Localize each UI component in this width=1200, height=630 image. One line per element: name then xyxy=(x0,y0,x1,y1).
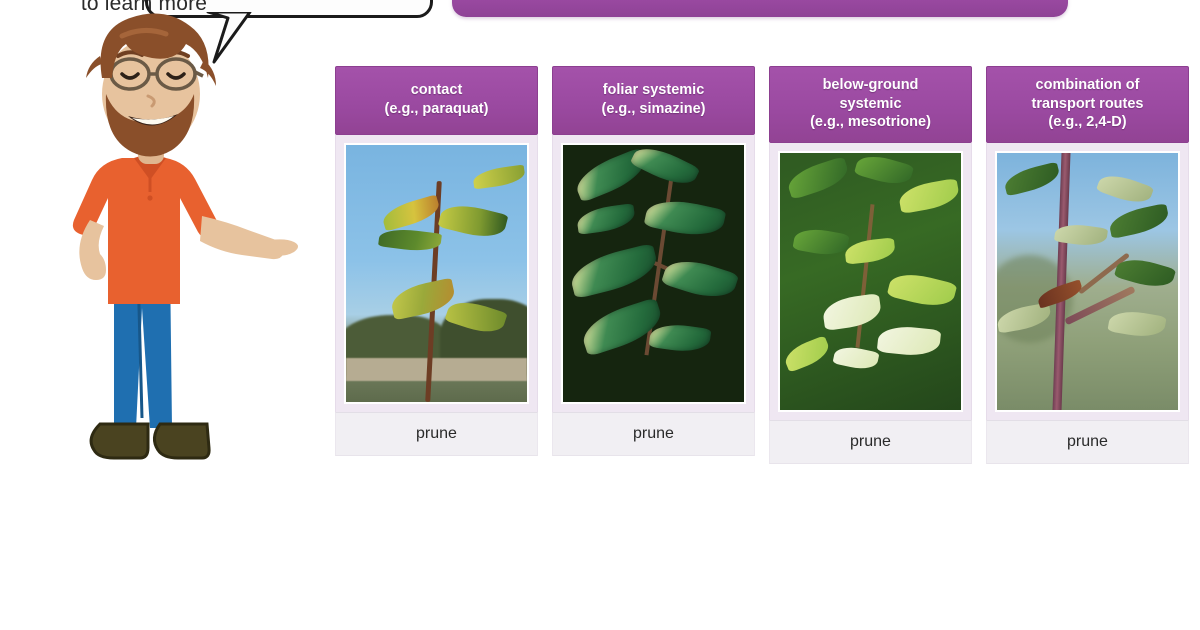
card-title-line2: (e.g., paraquat) xyxy=(385,101,489,117)
plant-photo-foliar-systemic xyxy=(561,143,746,404)
card-title-line2: transport routes xyxy=(1032,96,1144,112)
card-title-line1: contact xyxy=(411,82,463,98)
card-photo-frame xyxy=(986,143,1189,420)
plant-photo-below-ground-systemic xyxy=(778,151,963,412)
cartoon-instructor-avatar xyxy=(18,8,318,488)
card-title-line2: systemic xyxy=(839,96,901,112)
card-photo-frame xyxy=(335,135,538,412)
top-banner-pill xyxy=(452,0,1068,17)
card-title-line1: foliar systemic xyxy=(603,82,705,98)
card-below-ground-systemic[interactable]: below-ground systemic (e.g., mesotrione)… xyxy=(769,66,972,464)
card-title-line2: (e.g., simazine) xyxy=(602,101,706,117)
card-title-line1: combination of xyxy=(1036,77,1140,93)
card-footer-label[interactable]: prune xyxy=(769,420,972,464)
plant-photo-contact xyxy=(344,143,529,404)
card-title-line3: (e.g., mesotrione) xyxy=(810,114,931,130)
card-footer-label[interactable]: prune xyxy=(335,412,538,456)
card-photo-frame xyxy=(552,135,755,412)
card-title-line3: (e.g., 2,4-D) xyxy=(1048,114,1126,130)
plant-photo-combination-transport-routes xyxy=(995,151,1180,412)
card-header-contact: contact (e.g., paraquat) xyxy=(335,66,538,135)
card-photo-frame xyxy=(769,143,972,420)
card-title-line1: below-ground xyxy=(823,77,919,93)
card-header-foliar-systemic: foliar systemic (e.g., simazine) xyxy=(552,66,755,135)
card-contact[interactable]: contact (e.g., paraquat) prune xyxy=(335,66,538,456)
card-header-below-ground-systemic: below-ground systemic (e.g., mesotrione) xyxy=(769,66,972,143)
card-footer-label[interactable]: prune xyxy=(986,420,1189,464)
page-canvas: to learn more xyxy=(0,0,1200,630)
card-header-combination-transport-routes: combination of transport routes (e.g., 2… xyxy=(986,66,1189,143)
herbicide-card-row: contact (e.g., paraquat) prune foliar sy… xyxy=(335,66,1195,466)
card-foliar-systemic[interactable]: foliar systemic (e.g., simazine) prune xyxy=(552,66,755,456)
card-combination-transport-routes[interactable]: combination of transport routes (e.g., 2… xyxy=(986,66,1189,464)
card-footer-label[interactable]: prune xyxy=(552,412,755,456)
